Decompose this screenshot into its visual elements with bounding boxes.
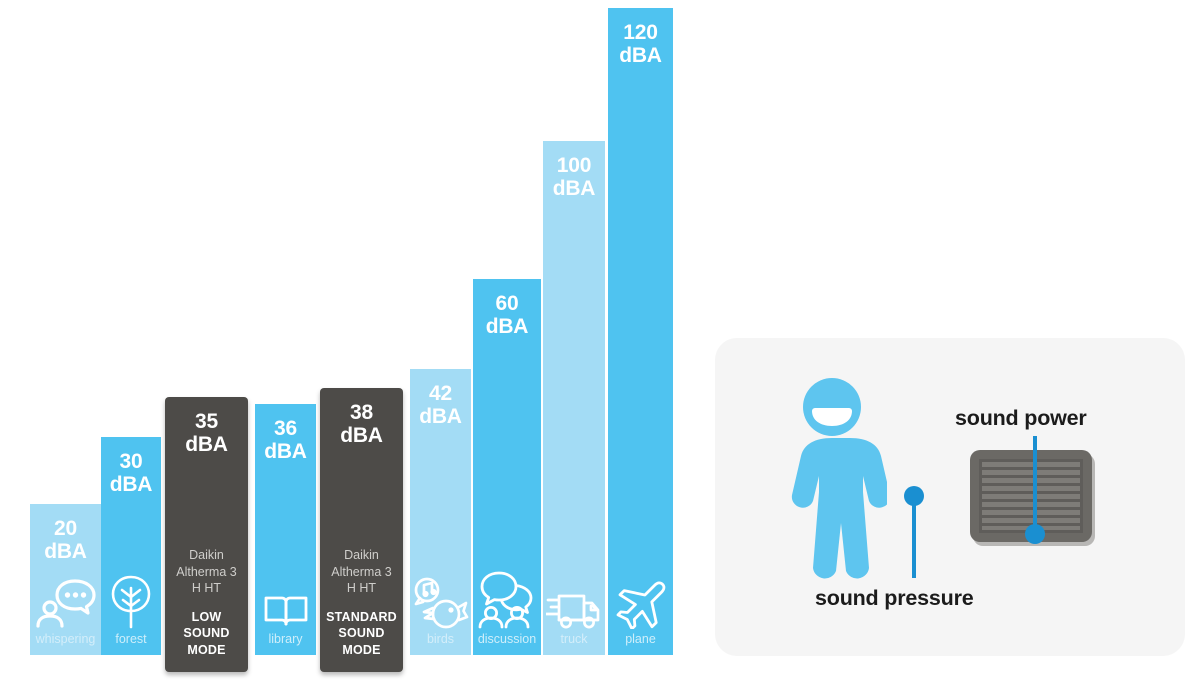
bar-value: 120dBA (619, 22, 662, 67)
bar-sound-mode: LOW SOUND MODE (183, 609, 229, 659)
tree-icon (101, 575, 161, 629)
bar-unit: dBA (340, 425, 383, 448)
two-people-speech-bubbles-icon (473, 571, 541, 629)
bar-plane: 120dBA plane (608, 8, 673, 655)
bar-unit: dBA (185, 434, 228, 457)
truck-icon (543, 589, 605, 629)
person-speech-bubble-icon (30, 577, 101, 629)
bar-label: plane (625, 632, 656, 646)
bar-value: 35dBA (185, 411, 228, 456)
bar-label: whispering (36, 632, 96, 646)
bar-product-name: Daikin Altherma 3 H HT (331, 547, 391, 597)
infographic-root: 20dBA whispering30dBA forest35dB (0, 0, 1200, 700)
bird-music-note-icon (410, 577, 471, 629)
bar-whispering: 20dBA whispering (30, 504, 101, 655)
bar-value: 60dBA (486, 293, 529, 338)
bar-discussion: 60dBA discussion (473, 279, 541, 655)
bar-daikin-low-sound-mode: 35dBADaikin Altherma 3 H HTLOW SOUND MOD… (165, 397, 248, 672)
sound-power-label: sound power (955, 406, 1087, 431)
bar-unit: dBA (110, 474, 153, 497)
bar-label: discussion (478, 632, 536, 646)
bar-value: 38dBA (340, 402, 383, 447)
bar-daikin-standard-sound-mode: 38dBADaikin Altherma 3 H HTSTANDARD SOUN… (320, 388, 403, 672)
bar-forest: 30dBA forest (101, 437, 161, 655)
bar-library: 36dBA library (255, 404, 316, 655)
bar-unit: dBA (264, 441, 307, 464)
bar-truck: 100dBA truck (543, 141, 605, 655)
bar-unit: dBA (486, 316, 529, 339)
sound-power-pressure-panel: sound power sound pressure (715, 338, 1185, 656)
bar-value: 36dBA (264, 418, 307, 463)
airplane-icon (608, 581, 673, 629)
bar-value: 20dBA (44, 518, 87, 563)
standing-person-icon (777, 374, 887, 599)
bar-value: 100dBA (553, 155, 596, 200)
open-book-icon (255, 593, 316, 629)
bar-sound-mode: STANDARD SOUND MODE (326, 609, 397, 659)
bar-product-name: Daikin Altherma 3 H HT (176, 547, 236, 597)
bar-unit: dBA (553, 178, 596, 201)
bar-unit: dBA (619, 45, 662, 68)
bar-birds: 42dBA birds (410, 369, 471, 655)
measurement-pin-power-icon (1022, 436, 1048, 549)
bar-value: 30dBA (110, 451, 153, 496)
bar-label: library (268, 632, 302, 646)
bar-label: truck (560, 632, 587, 646)
bar-label: forest (115, 632, 146, 646)
bar-unit: dBA (419, 406, 462, 429)
sound-level-bar-chart: 20dBA whispering30dBA forest35dB (0, 0, 700, 700)
sound-pressure-label: sound pressure (815, 586, 974, 611)
bar-value: 42dBA (419, 383, 462, 428)
measurement-pin-pressure-icon (901, 486, 927, 583)
bar-label: birds (427, 632, 454, 646)
bar-unit: dBA (44, 541, 87, 564)
